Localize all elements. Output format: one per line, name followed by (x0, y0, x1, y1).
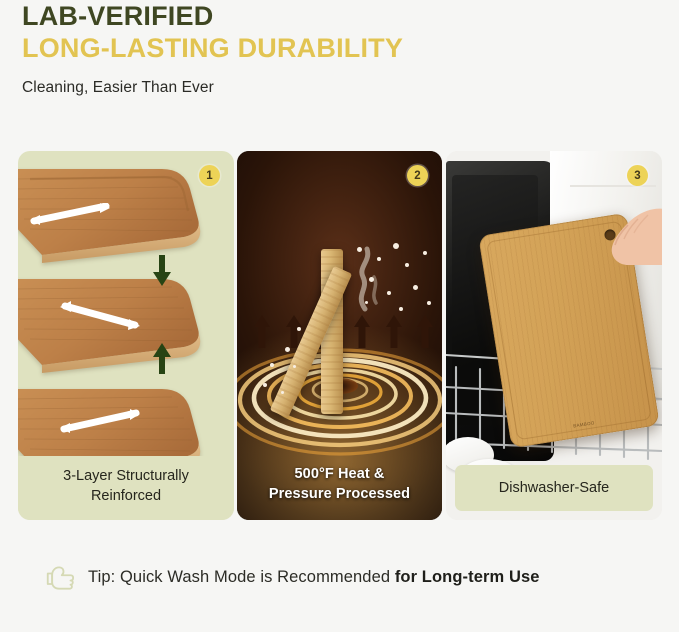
particle (357, 247, 362, 252)
panel-caption-3: Dishwasher-Safe (455, 465, 653, 511)
tip-text: Tip: Quick Wash Mode is Recommended for … (88, 568, 540, 587)
panel-caption-1-line2: Reinforced (24, 486, 228, 506)
heat-rise-arrows-icon (253, 315, 433, 349)
panel-caption-1: 3-Layer Structurally Reinforced (18, 456, 234, 520)
particle (365, 301, 368, 304)
headline-primary: LAB-VERIFIED (22, 0, 662, 31)
particle (413, 285, 418, 290)
compression-arrow-up-icon (151, 343, 173, 375)
particle (263, 383, 267, 387)
tip-bar: Tip: Quick Wash Mode is Recommended for … (0, 552, 679, 602)
feature-panel-2[interactable]: 2 500°F Heat & Pressure Processed (237, 151, 442, 520)
particle (393, 243, 399, 249)
panel-badge-2: 2 (407, 165, 428, 186)
panel-caption-1-line1: 3-Layer Structurally (24, 466, 228, 486)
particle (399, 307, 403, 311)
particle (405, 263, 409, 267)
headline-secondary: LONG-LASTING DURABILITY (22, 31, 662, 65)
particle (423, 251, 427, 255)
header: LAB-VERIFIED LONG-LASTING DURABILITY Cle… (22, 0, 662, 99)
particle (369, 277, 374, 282)
particle (297, 327, 301, 331)
grain-direction-arrow-1 (28, 203, 112, 229)
particle (377, 257, 381, 261)
particle (270, 363, 274, 367)
tip-text-normal: Tip: Quick Wash Mode is Recommended (88, 568, 395, 586)
tip-text-bold: for Long-term Use (395, 568, 540, 586)
particle (281, 391, 284, 394)
feature-panel-1[interactable]: 1 3-Layer Structurally Reinforced (18, 151, 234, 520)
panel-badge-1: 1 (199, 165, 220, 186)
panel-caption-2-line2: Pressure Processed (243, 484, 436, 504)
particle (427, 301, 431, 305)
subtitle: Cleaning, Easier Than Ever (22, 65, 662, 99)
panel-caption-2-line1: 500°F Heat & (243, 464, 436, 484)
product-infographic: LAB-VERIFIED LONG-LASTING DURABILITY Cle… (0, 0, 679, 632)
feature-panels: 1 3-Layer Structurally Reinforced (0, 151, 679, 521)
particle (293, 365, 296, 368)
particle (387, 291, 391, 295)
grain-direction-arrow-2 (58, 301, 142, 331)
feature-panel-3[interactable]: BAMBOO 3 Dishwasher-Safe (446, 151, 662, 520)
panel-caption-2: 500°F Heat & Pressure Processed (237, 454, 442, 520)
hand-icon (590, 205, 662, 271)
particle (285, 347, 290, 352)
dishwasher-door-seam (570, 185, 656, 187)
steam-wisp-icon (343, 243, 393, 313)
grain-direction-arrow-3 (58, 409, 142, 435)
compression-arrow-down-icon (151, 255, 173, 287)
pointing-hand-icon (45, 563, 75, 591)
panel-badge-3: 3 (627, 165, 648, 186)
